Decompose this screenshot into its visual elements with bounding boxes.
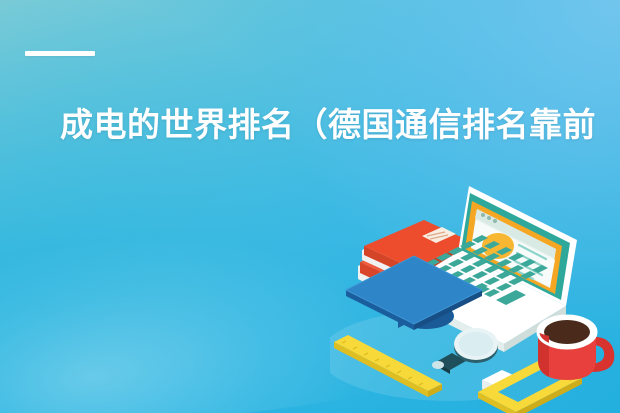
accent-rule: [25, 51, 95, 56]
coffee-mug-icon: [538, 316, 614, 380]
cover-headline: 成电的世界排名（德国通信排名靠前: [60, 103, 620, 147]
browser-dot-2: [487, 216, 491, 220]
article-cover-image: 成电的世界排名（德国通信排名靠前: [0, 0, 620, 413]
browser-dot-1: [481, 213, 485, 217]
desk-study-illustration: [330, 180, 620, 413]
browser-dot-3: [493, 219, 497, 223]
